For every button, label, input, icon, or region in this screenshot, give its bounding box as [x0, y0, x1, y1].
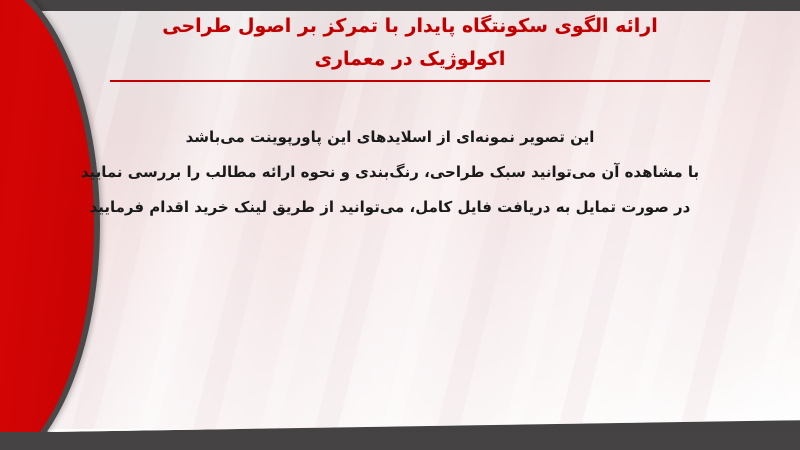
- slide-frame-bottom: [0, 432, 800, 450]
- presentation-slide: ارائه الگوی سکونتگاه پایدار با تمرکز بر …: [0, 0, 800, 450]
- slide-title-line-2: اکولوژیک در معماری: [110, 43, 710, 76]
- body-line-3: در صورت تمایل به دریافت فایل کامل، می‌تو…: [60, 190, 720, 225]
- title-divider-rule: [110, 80, 710, 82]
- slide-body-block: این تصویر نمونه‌ای از اسلایدهای این پاور…: [60, 120, 720, 225]
- slide-title-line-1: ارائه الگوی سکونتگاه پایدار با تمرکز بر …: [110, 10, 710, 43]
- body-line-2: با مشاهده آن می‌توانید سبک طراحی، رنگ‌بن…: [60, 155, 720, 190]
- body-line-1: این تصویر نمونه‌ای از اسلایدهای این پاور…: [60, 120, 720, 155]
- slide-title-block: ارائه الگوی سکونتگاه پایدار با تمرکز بر …: [110, 10, 710, 82]
